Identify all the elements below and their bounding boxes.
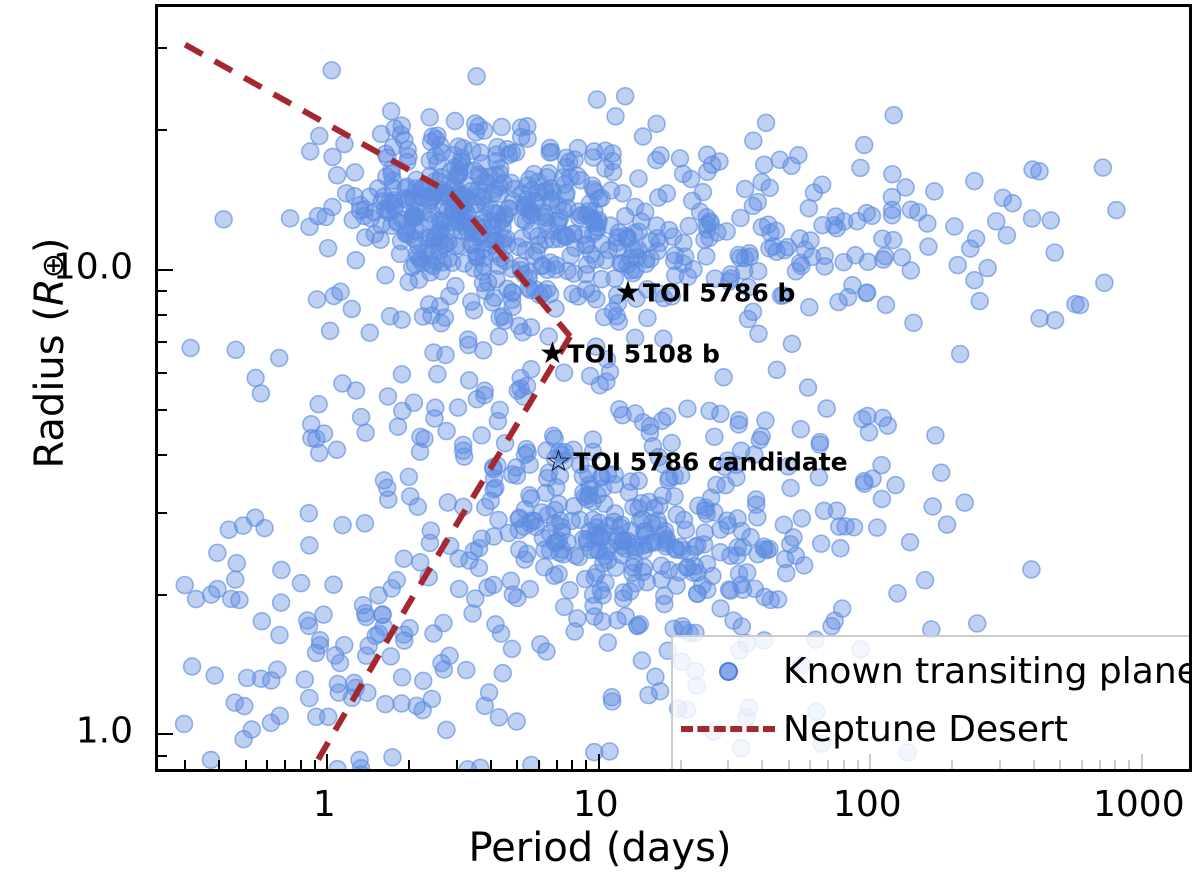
y-tick <box>158 290 167 292</box>
y-axis-label-symbol: R <box>27 278 73 306</box>
y-tick <box>158 129 167 131</box>
legend-marker-desert <box>673 709 783 749</box>
legend-label-neptune-desert: Neptune Desert <box>783 709 1068 750</box>
annotation-label: TOI 5786 candidate <box>573 448 847 477</box>
x-tick <box>408 760 410 769</box>
x-tick <box>571 760 573 769</box>
x-tick <box>538 760 540 769</box>
legend-entry-neptune-desert[interactable]: Neptune Desert <box>673 703 1192 755</box>
y-tick <box>158 409 167 411</box>
x-tick <box>456 760 458 769</box>
filled-star-icon: ★ <box>539 339 566 369</box>
x-tick <box>218 760 220 769</box>
annotation-label: TOI 5108 b <box>567 339 720 368</box>
y-tick <box>158 314 167 316</box>
x-tick <box>490 760 492 769</box>
x-tick <box>556 760 558 769</box>
legend-marker-scatter <box>673 651 783 691</box>
y-tick <box>158 512 167 514</box>
x-tick <box>284 760 286 769</box>
x-tick <box>516 760 518 769</box>
y-axis-label: Radius (R⊕) <box>27 73 73 633</box>
earth-symbol-icon: ⊕ <box>36 253 71 278</box>
y-tick <box>158 755 167 757</box>
y-tick <box>158 454 167 456</box>
y-tick <box>158 47 167 49</box>
legend-box[interactable]: Known transiting planets Neptune Desert <box>671 635 1192 772</box>
plot-area: ★TOI 5786 b★TOI 5108 b☆TOI 5786 candidat… <box>155 4 1192 772</box>
x-tick-label: 10 <box>573 784 619 825</box>
x-tick <box>266 760 268 769</box>
circle-marker-icon <box>719 662 738 681</box>
dashed-line-icon <box>681 726 775 732</box>
x-tick-label: 1 <box>313 784 336 825</box>
y-axis-label-prefix: Radius ( <box>27 306 73 468</box>
x-tick <box>326 754 328 769</box>
x-tick <box>598 754 600 769</box>
y-tick <box>158 372 167 374</box>
x-tick <box>314 760 316 769</box>
x-axis-label: Period (days) <box>0 825 1200 871</box>
x-tick <box>300 760 302 769</box>
open-star-icon: ☆ <box>545 447 572 477</box>
legend-entry-known-transiting-planets[interactable]: Known transiting planets <box>673 645 1192 697</box>
annotation-label: TOI 5786 b <box>643 279 796 308</box>
x-tick-label: 100 <box>833 784 902 825</box>
y-tick <box>158 269 173 271</box>
x-tick-label: 1000 <box>1093 784 1185 825</box>
y-tick <box>158 733 173 735</box>
filled-star-icon: ★ <box>614 278 641 308</box>
y-tick <box>158 594 167 596</box>
x-tick <box>585 760 587 769</box>
y-tick <box>158 341 167 343</box>
exoplanet-period-radius-chart: ★TOI 5786 b★TOI 5108 b☆TOI 5786 candidat… <box>0 0 1200 881</box>
y-tick-label: 1.0 <box>0 711 133 752</box>
x-tick <box>245 760 247 769</box>
x-tick <box>184 760 186 769</box>
y-axis-label-suffix: ) <box>27 238 73 254</box>
legend-label-known-transiting-planets: Known transiting planets <box>783 651 1192 692</box>
